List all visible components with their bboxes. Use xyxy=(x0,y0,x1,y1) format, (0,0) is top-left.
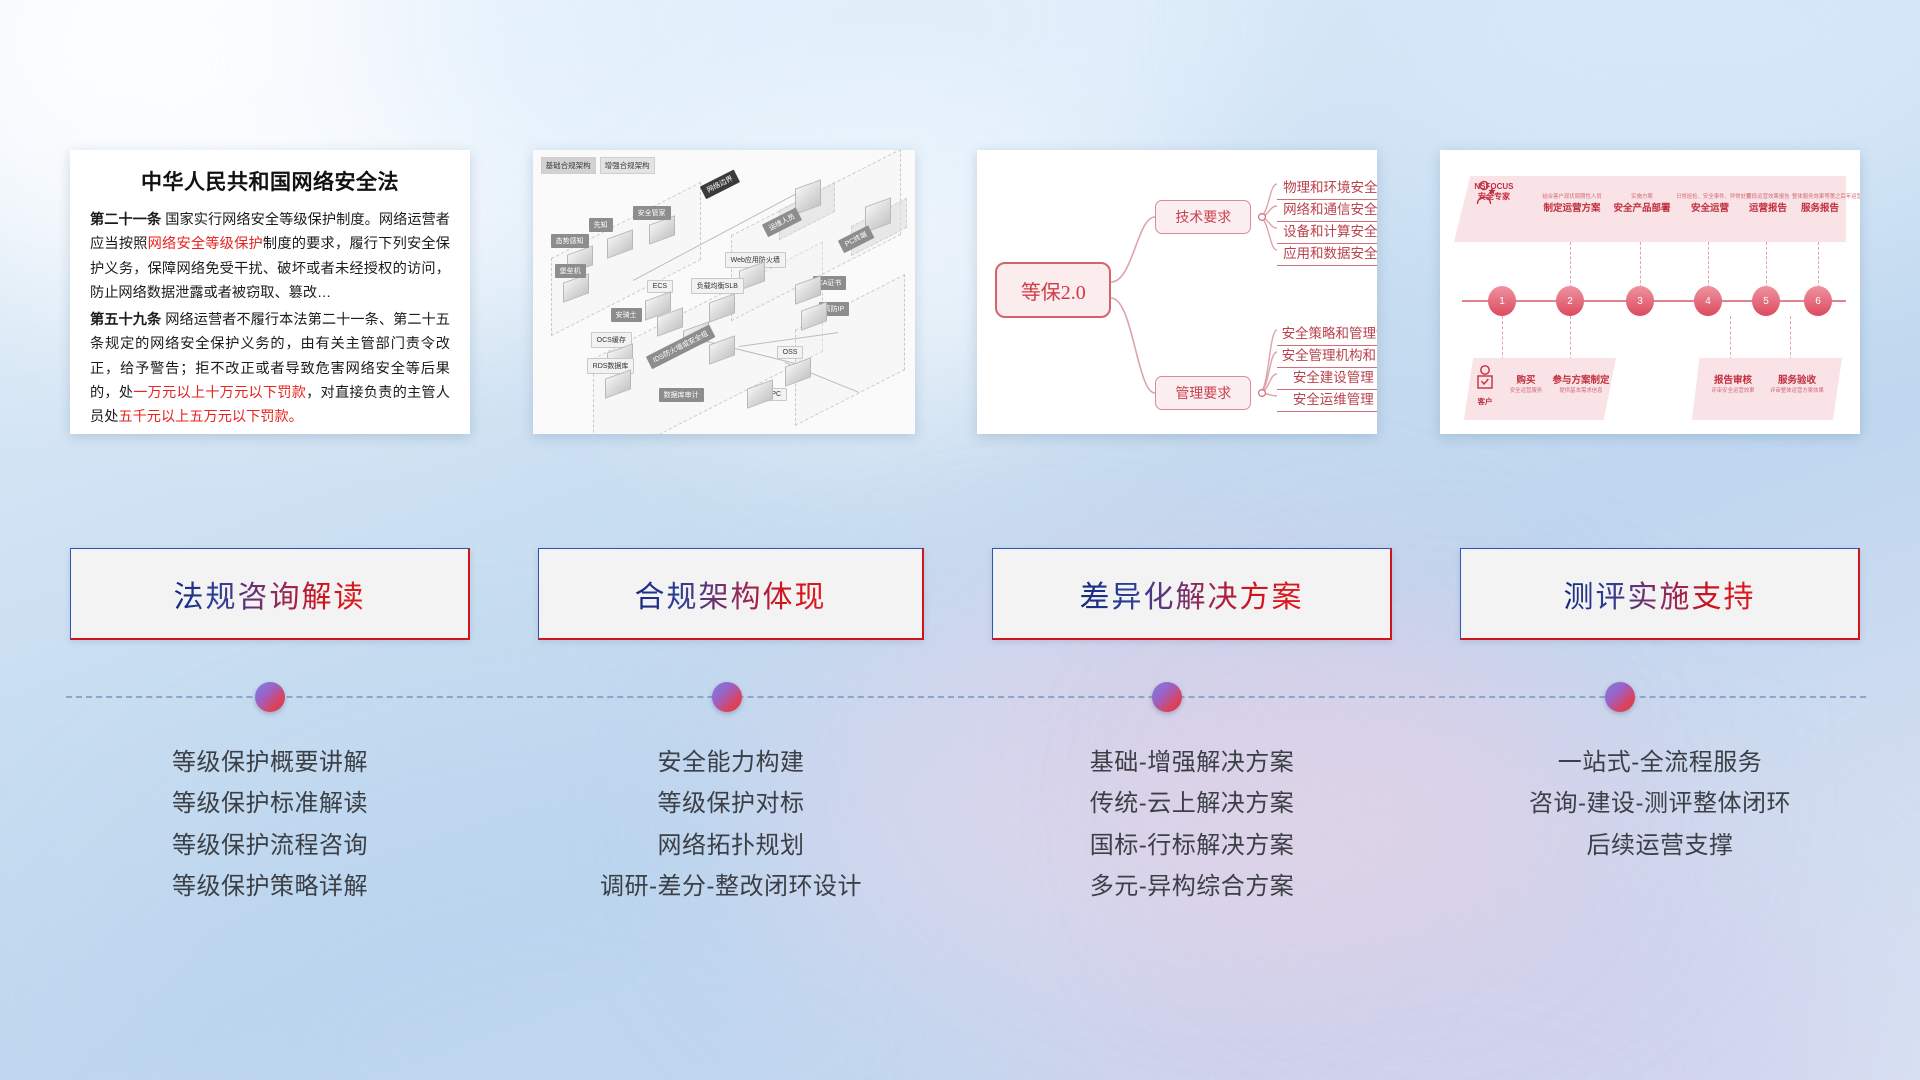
service-list-compliance-architecture: 安全能力构建 等级保护对标 网络拓扑规划 调研-差分-整改闭环设计 xyxy=(538,742,924,907)
card-nsfocus-timeline[interactable]: NSFOCUS 安全专家 结合客户现状周期性人员 制定运营方案 实施方案 安全产… xyxy=(1440,150,1860,434)
architecture-tabs: 基础合规架构 增强合规架构 xyxy=(541,157,655,174)
mindmap-branch-management[interactable]: 管理要求 xyxy=(1155,376,1251,410)
nsfocus-tick xyxy=(1708,242,1709,288)
nsfocus-step-number[interactable]: 2 xyxy=(1556,286,1584,316)
law-highlight-segment: 一万元以上十万元以下罚款 xyxy=(133,385,306,401)
cards-row: 中华人民共和国网络安全法 第二十一条 国家实行网络安全等级保护制度。网络运营者应… xyxy=(70,150,1860,440)
card-mindmap-dengbao[interactable]: 等保2.0 技术要求 管理要求 物理和环境安全 网络和通信安全 设备和计算安全 … xyxy=(977,150,1377,434)
step-subtext: 日常巡检、安全事件、异常处置 xyxy=(1676,192,1744,200)
mindmap-leaf[interactable]: 安全管理机构和人员 xyxy=(1277,344,1377,368)
card-cloud-architecture[interactable]: 基础合规架构 增强合规架构 网络边界 安全管家 先知 xyxy=(533,150,915,434)
nsfocus-bottom-item: 参与方案制定 提供基本需求信息 xyxy=(1548,372,1614,394)
nsfocus-top-step: 阶段运营效果报告 运营报告 xyxy=(1740,192,1796,214)
list-item[interactable]: 一站式-全流程服务 xyxy=(1460,742,1860,783)
timeline-dot-4[interactable] xyxy=(1605,682,1635,712)
nsfocus-bottom-item: 服务验收 评审整体运营方案效果 xyxy=(1766,372,1828,394)
customer-person-icon xyxy=(1474,364,1496,394)
item-subtext: 安全运营服务 xyxy=(1502,386,1550,394)
law-title: 中华人民共和国网络安全法 xyxy=(90,166,450,196)
timeline-dot-3[interactable] xyxy=(1152,682,1182,712)
step-subtext: 实施方案 xyxy=(1606,192,1678,200)
headline-boxes-row: 法规咨询解读 合规架构体现 差异化解决方案 测评实施支持 xyxy=(70,548,1860,640)
card-cybersecurity-law[interactable]: 中华人民共和国网络安全法 第二十一条 国家实行网络安全等级保护制度。网络运营者应… xyxy=(70,150,470,434)
timeline-dashed-line xyxy=(66,696,1866,698)
arch-node: 数据库审计 xyxy=(659,388,704,402)
item-title: 服务验收 xyxy=(1766,372,1828,386)
item-subtext: 评审安全运营效果 xyxy=(1704,386,1762,394)
headline-label: 合规架构体现 xyxy=(635,572,827,616)
law-highlight-segment: 网络安全等级保护 xyxy=(148,236,263,252)
item-title: 购买 xyxy=(1502,372,1550,386)
mindmap-branch-technical[interactable]: 技术要求 xyxy=(1155,200,1251,234)
list-item[interactable]: 等级保护策略详解 xyxy=(70,866,470,907)
mindmap-leaf[interactable]: 网络和通信安全 xyxy=(1277,198,1377,222)
list-item[interactable]: 国标-行标解决方案 xyxy=(992,825,1392,866)
nsfocus-tick xyxy=(1570,316,1571,360)
nsfocus-bottom-item: 购买 安全运营服务 xyxy=(1502,372,1550,394)
arch-node: 先知 xyxy=(589,218,613,232)
list-item[interactable]: 调研-差分-整改闭环设计 xyxy=(538,866,924,907)
item-title: 参与方案制定 xyxy=(1548,372,1614,386)
list-item[interactable]: 等级保护对标 xyxy=(538,783,924,824)
step-title: 安全运营 xyxy=(1676,200,1744,214)
step-title: 制定运营方案 xyxy=(1536,200,1608,214)
timeline-dot-2[interactable] xyxy=(712,682,742,712)
item-subtext: 提供基本需求信息 xyxy=(1548,386,1614,394)
arch-node: 态势感知 xyxy=(551,234,589,248)
nsfocus-top-step: 整体服务效果等第之后年运营效果报告 服务报告 xyxy=(1792,192,1848,214)
arch-node: 安骑士 xyxy=(611,308,642,322)
nsfocus-tick xyxy=(1570,242,1571,288)
headline-box-regulation-consulting[interactable]: 法规咨询解读 xyxy=(70,548,470,640)
item-subtext: 评审整体运营方案效果 xyxy=(1766,386,1828,394)
headline-label: 差异化解决方案 xyxy=(1080,572,1304,616)
brand-name: NSFOCUS xyxy=(1464,182,1524,192)
timeline-dot-1[interactable] xyxy=(255,682,285,712)
nsfocus-step-number[interactable]: 5 xyxy=(1752,286,1780,316)
law-text-block: 中华人民共和国网络安全法 第二十一条 国家实行网络安全等级保护制度。网络运营者应… xyxy=(70,150,470,434)
arch-tab-basic[interactable]: 基础合规架构 xyxy=(541,157,596,174)
headline-label: 测评实施支持 xyxy=(1564,572,1756,616)
arch-node: 堡垒机 xyxy=(555,264,586,278)
mindmap-leaf[interactable]: 安全运维管理 xyxy=(1277,388,1377,412)
list-item[interactable]: 等级保护流程咨询 xyxy=(70,825,470,866)
mindmap-root-node[interactable]: 等保2.0 xyxy=(995,262,1111,318)
list-item[interactable]: 等级保护标准解读 xyxy=(70,783,470,824)
list-item[interactable]: 传统-云上解决方案 xyxy=(992,783,1392,824)
list-item[interactable]: 后续运营支撑 xyxy=(1460,825,1860,866)
law-article-number: 第二十一条 xyxy=(90,212,161,228)
step-title: 运营报告 xyxy=(1740,200,1796,214)
nsfocus-tick xyxy=(1766,242,1767,288)
nsfocus-tick xyxy=(1640,242,1641,288)
step-title: 服务报告 xyxy=(1792,200,1848,214)
mindmap-leaf[interactable]: 安全建设管理 xyxy=(1277,366,1377,390)
headline-box-differentiated-solution[interactable]: 差异化解决方案 xyxy=(992,548,1392,640)
arch-node: OSS xyxy=(777,346,804,359)
arch-node: 网络边界 xyxy=(699,170,739,200)
service-list-differentiated-solution: 基础-增强解决方案 传统-云上解决方案 国标-行标解决方案 多元-异构综合方案 xyxy=(992,742,1392,907)
nsfocus-top-step: 日常巡检、安全事件、异常处置 安全运营 xyxy=(1676,192,1744,214)
nsfocus-timeline: NSFOCUS 安全专家 结合客户现状周期性人员 制定运营方案 实施方案 安全产… xyxy=(1440,150,1860,434)
headline-label: 法规咨询解读 xyxy=(174,572,366,616)
law-article-number: 第五十九条 xyxy=(90,312,161,328)
architecture-diagram: 基础合规架构 增强合规架构 网络边界 安全管家 先知 xyxy=(533,150,915,434)
step-subtext: 结合客户现状周期性人员 xyxy=(1536,192,1608,200)
service-list-regulation-consulting: 等级保护概要讲解 等级保护标准解读 等级保护流程咨询 等级保护策略详解 xyxy=(70,742,470,907)
nsfocus-top-step: 结合客户现状周期性人员 制定运营方案 xyxy=(1536,192,1608,214)
headline-box-assessment-support[interactable]: 测评实施支持 xyxy=(1460,548,1860,640)
list-item[interactable]: 基础-增强解决方案 xyxy=(992,742,1392,783)
nsfocus-brand: NSFOCUS 安全专家 xyxy=(1464,182,1524,202)
nsfocus-step-number[interactable]: 4 xyxy=(1694,286,1722,316)
list-item[interactable]: 网络拓扑规划 xyxy=(538,825,924,866)
mindmap-leaf[interactable]: 物理和环境安全 xyxy=(1277,176,1377,200)
nsfocus-tick xyxy=(1730,316,1731,360)
law-highlight-segment: 五千元以上五万元以下罚款。 xyxy=(118,409,302,425)
mindmap-leaf[interactable]: 设备和计算安全 xyxy=(1277,220,1377,244)
arch-tab-enhanced[interactable]: 增强合规架构 xyxy=(600,157,655,174)
item-title: 报告审核 xyxy=(1704,372,1762,386)
list-item[interactable]: 咨询-建设-测评整体闭环 xyxy=(1460,783,1860,824)
nsfocus-step-number[interactable]: 6 xyxy=(1804,286,1832,316)
mindmap: 等保2.0 技术要求 管理要求 物理和环境安全 网络和通信安全 设备和计算安全 … xyxy=(977,150,1377,434)
law-paragraph-1: 第二十一条 国家实行网络安全等级保护制度。网络运营者应当按照网络安全等级保护制度… xyxy=(90,208,450,306)
law-paragraph-2: 第五十九条 网络运营者不履行本法第二十一条、第二十五条规定的网络安全保护义务的，… xyxy=(90,308,450,430)
step-subtext: 阶段运营效果报告 xyxy=(1740,192,1796,200)
mindmap-leaf[interactable]: 安全策略和管理制度 xyxy=(1277,322,1377,346)
headline-box-compliance-architecture[interactable]: 合规架构体现 xyxy=(538,548,924,640)
list-item[interactable]: 安全能力构建 xyxy=(538,742,924,783)
step-subtext: 整体服务效果等第之后年运营效果报告 xyxy=(1792,192,1848,200)
arch-node: 安全管家 xyxy=(633,206,671,220)
nsfocus-top-step: 实施方案 安全产品部署 xyxy=(1606,192,1678,214)
nsfocus-bottom-item: 报告审核 评审安全运营效果 xyxy=(1704,372,1762,394)
list-item[interactable]: 等级保护概要讲解 xyxy=(70,742,470,783)
nsfocus-step-number[interactable]: 3 xyxy=(1626,286,1654,316)
role-label: 客户 xyxy=(1470,396,1500,407)
nsfocus-tick xyxy=(1818,242,1819,288)
service-lists-row: 等级保护概要讲解 等级保护标准解读 等级保护流程咨询 等级保护策略详解 安全能力… xyxy=(70,742,1860,907)
nsfocus-tick xyxy=(1790,316,1791,360)
service-list-assessment-support: 一站式-全流程服务 咨询-建设-测评整体闭环 后续运营支撑 xyxy=(1460,742,1860,907)
nsfocus-tick xyxy=(1502,316,1503,360)
list-item[interactable]: 多元-异构综合方案 xyxy=(992,866,1392,907)
nsfocus-customer-role: 客户 xyxy=(1470,396,1500,407)
step-title: 安全产品部署 xyxy=(1606,200,1678,214)
arch-node: 负载均衡SLB xyxy=(691,278,744,294)
mindmap-leaf[interactable]: 应用和数据安全 xyxy=(1277,242,1377,266)
nsfocus-step-number[interactable]: 1 xyxy=(1488,286,1516,316)
nsfocus-axis-line xyxy=(1462,300,1846,302)
brand-subtitle: 安全专家 xyxy=(1464,192,1524,202)
